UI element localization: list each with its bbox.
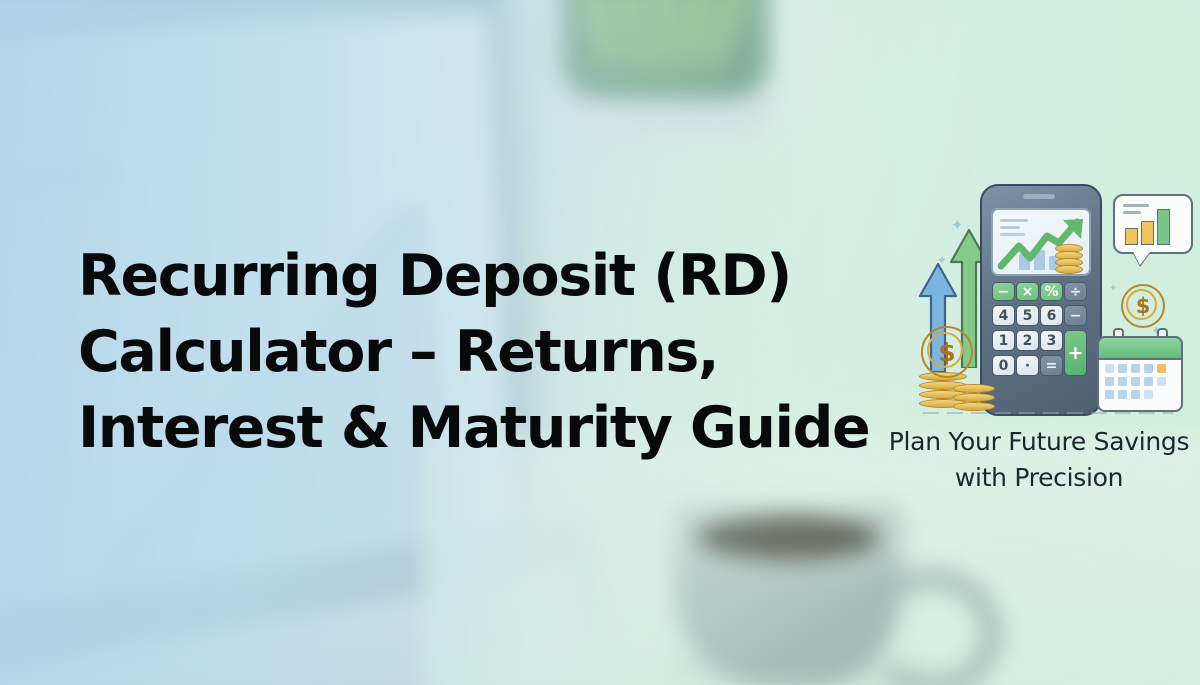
coin-inner-ring xyxy=(927,332,963,368)
speech-bubble-tail xyxy=(1131,248,1153,265)
page-title: Recurring Deposit (RD) Calculator – Retu… xyxy=(78,238,868,466)
ground-line xyxy=(923,412,1173,414)
bubble-bar-3 xyxy=(1157,209,1170,245)
hero-banner: Recurring Deposit (RD) Calculator – Retu… xyxy=(0,0,1200,685)
calculator-key-minus[interactable]: − xyxy=(1064,305,1087,326)
headline-line-3: Interest & Maturity Guide xyxy=(78,390,868,466)
sparkle-icon: ✦ xyxy=(1109,284,1117,294)
tagline-line-1: Plan Your Future Savings xyxy=(878,424,1200,460)
calculator-key-5[interactable]: 5 xyxy=(1016,305,1039,326)
calculator-speaker xyxy=(1023,194,1055,199)
coin-stack-disc xyxy=(953,384,995,393)
calculator-screen xyxy=(991,208,1091,276)
calculator-key-divide[interactable]: ÷ xyxy=(1064,282,1087,301)
calculator-key-equals[interactable]: = xyxy=(1040,355,1063,376)
calendar-header xyxy=(1097,336,1183,360)
rd-calculator-illustration: ✦ ✦ ✦ ✦ ✦ xyxy=(905,176,1195,424)
calculator-key-1[interactable]: 1 xyxy=(992,330,1015,351)
headline-line-1: Recurring Deposit (RD) xyxy=(78,238,868,314)
calculator-key-6[interactable]: 6 xyxy=(1040,305,1063,326)
coin-stack-disc xyxy=(953,393,995,402)
speech-bubble xyxy=(1113,194,1193,254)
calculator-key-minus-top[interactable]: − xyxy=(992,282,1015,301)
bubble-bar-2 xyxy=(1141,221,1154,245)
bubble-bar-1 xyxy=(1125,228,1138,245)
calculator-key-2[interactable]: 2 xyxy=(1016,330,1039,351)
calculator-key-decimal[interactable]: · xyxy=(1016,355,1039,376)
calculator-key-multiply[interactable]: × xyxy=(1016,282,1039,301)
calculator-key-3[interactable]: 3 xyxy=(1040,330,1063,351)
calculator-key-percent[interactable]: % xyxy=(1040,282,1063,301)
calculator-key-4[interactable]: 4 xyxy=(992,305,1015,326)
banner-tagline: Plan Your Future Savings with Precision xyxy=(878,424,1200,496)
headline-line-2: Calculator – Returns, xyxy=(78,314,868,390)
coin-inner-ring xyxy=(1126,289,1157,320)
calculator-key-0[interactable]: 0 xyxy=(992,355,1015,376)
calculator-key-plus[interactable]: + xyxy=(1064,330,1087,376)
tagline-line-2: with Precision xyxy=(878,460,1200,496)
coin-stack-disc xyxy=(953,402,995,411)
